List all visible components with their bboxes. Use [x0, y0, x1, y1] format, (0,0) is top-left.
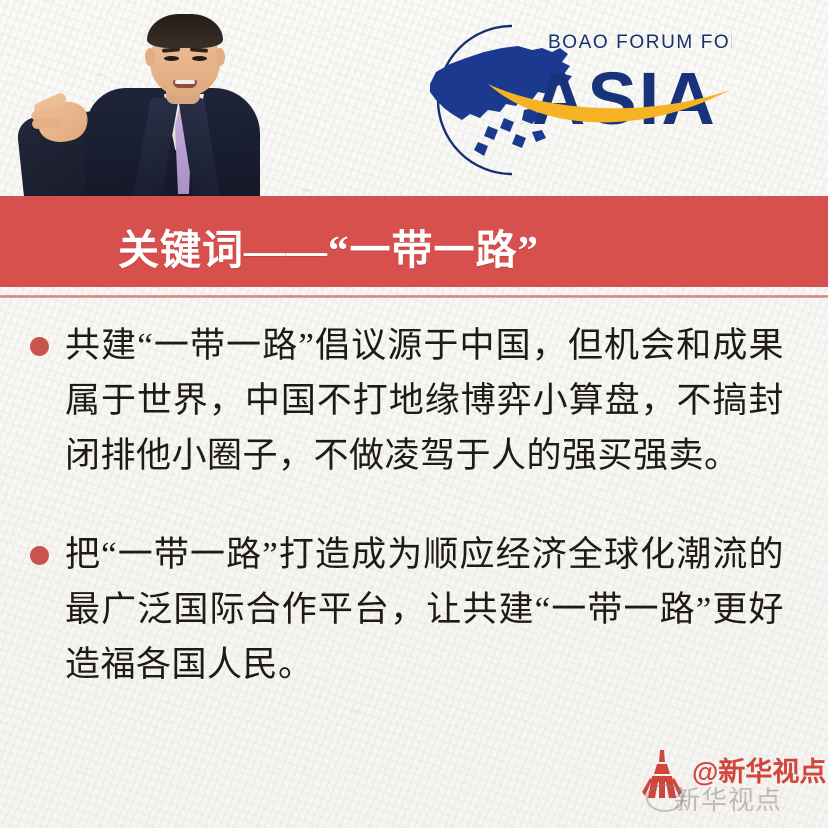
speaker-portrait — [14, 2, 314, 196]
portrait-teeth — [175, 80, 195, 84]
paragraph-text: 把“一带一路”打造成为顺应经济全球化潮流的最广泛国际合作平台，让共建“一带一路”… — [65, 527, 784, 692]
brand-footer: @新华视点 新华视点 — [636, 742, 828, 812]
bullet-paragraph: 共建“一带一路”倡议源于中国，但机会和成果属于世界，中国不打地缘博弈小算盘，不搞… — [0, 318, 828, 483]
portrait-ear-right — [215, 48, 225, 66]
portrait-hair — [147, 14, 223, 48]
bullet-point-icon — [30, 546, 49, 565]
boao-forum-logo: BOAO FORUM FOR ASIA 博鳌亚洲论坛 — [392, 14, 732, 186]
portrait-eye-right — [192, 56, 207, 61]
poster-canvas: BOAO FORUM FOR ASIA 博鳌亚洲论坛 关键词——“一带一路” 共… — [0, 0, 828, 828]
paragraph-text: 共建“一带一路”倡议源于中国，但机会和成果属于世界，中国不打地缘博弈小算盘，不搞… — [65, 318, 784, 483]
logo-tagline-text: BOAO FORUM FOR — [548, 32, 732, 53]
bullet-point-icon — [30, 337, 49, 356]
portrait-ear-left — [145, 48, 155, 66]
content-area: 共建“一带一路”倡议源于中国，但机会和成果属于世界，中国不打地缘博弈小算盘，不搞… — [0, 318, 828, 736]
portrait-eye-left — [164, 56, 179, 61]
banner-divider-line — [0, 295, 828, 298]
watermark-label: 新华视点 — [674, 780, 782, 817]
logo-asia-text: ASIA — [532, 57, 717, 140]
header-area: BOAO FORUM FOR ASIA 博鳌亚洲论坛 — [0, 0, 828, 196]
bullet-paragraph: 把“一带一路”打造成为顺应经济全球化潮流的最广泛国际合作平台，让共建“一带一路”… — [0, 527, 828, 692]
page-title: 关键词——“一带一路” — [118, 216, 539, 276]
